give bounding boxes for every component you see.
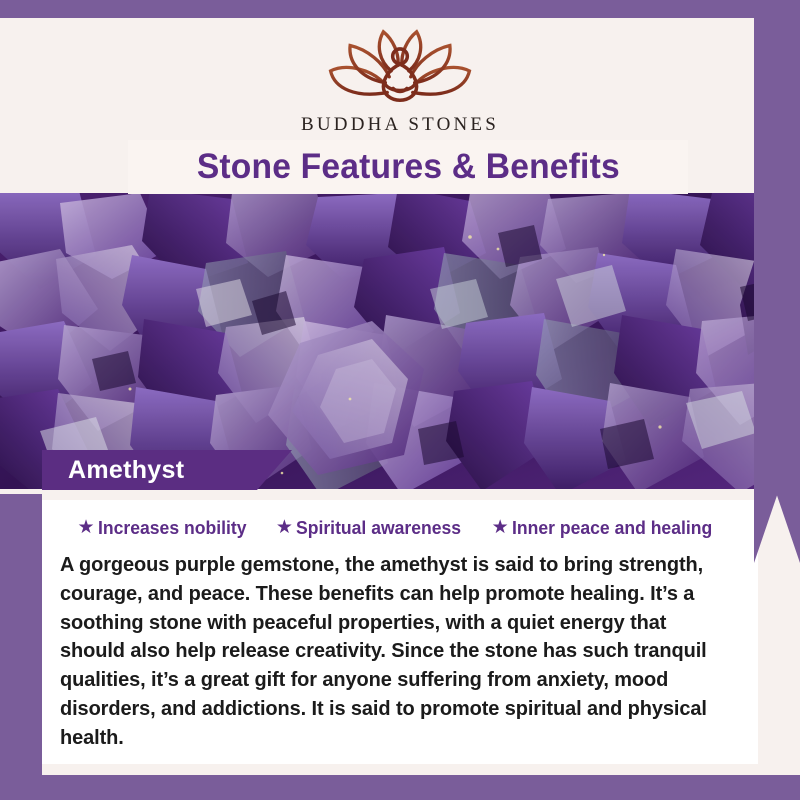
frame-border-right: [754, 0, 800, 563]
content-panel: ★ Increases nobility ★ Spiritual awarene…: [42, 500, 758, 764]
star-icon: ★: [78, 518, 95, 537]
brand-header: BUDDHA STONES: [0, 18, 800, 148]
brand-wordmark: BUDDHA STONES: [301, 114, 499, 136]
feature-label: Increases nobility: [98, 517, 246, 539]
frame-border-bottom: [0, 775, 800, 800]
star-icon: ★: [276, 518, 293, 537]
stone-name-label: Amethyst: [42, 456, 184, 485]
frame-border-left: [0, 494, 42, 776]
feature-label: Inner peace and healing: [512, 517, 712, 539]
star-icon: ★: [492, 518, 509, 537]
amethyst-crystal-photo: [0, 193, 800, 489]
content-section: ★ Increases nobility ★ Spiritual awarene…: [0, 489, 800, 775]
feature-list: ★ Increases nobility ★ Spiritual awarene…: [42, 500, 758, 539]
stone-benefits-infographic: BUDDHA STONES Stone Features & Benefits: [0, 0, 800, 800]
feature-label: Spiritual awareness: [296, 517, 461, 539]
feature-item: ★ Spiritual awareness: [276, 517, 470, 539]
stone-description: A gorgeous purple gemstone, the amethyst…: [60, 551, 730, 753]
lotus-meditation-figure-icon: [315, 24, 485, 112]
crystal-texture-graphic: [0, 193, 800, 489]
feature-item: ★ Increases nobility: [78, 517, 254, 539]
feature-item: ★ Inner peace and healing: [492, 517, 723, 539]
page-title: Stone Features & Benefits: [196, 147, 619, 187]
stone-name-banner: Amethyst: [42, 450, 292, 490]
title-band: Stone Features & Benefits: [128, 140, 688, 194]
frame-border-top: [0, 0, 800, 18]
